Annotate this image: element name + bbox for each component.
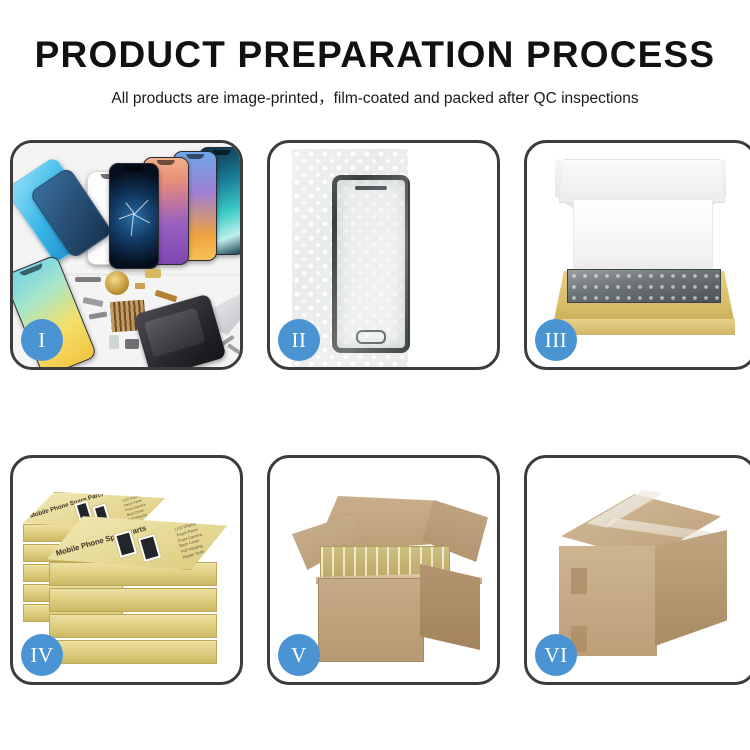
- sealed-carton-side: [655, 530, 727, 646]
- box-lid-back: [559, 159, 725, 203]
- carton-front-face: [318, 578, 424, 662]
- page-header: PRODUCT PREPARATION PROCESS All products…: [0, 0, 750, 108]
- packed-screen: [567, 269, 721, 303]
- process-step-panel-1[interactable]: I: [10, 140, 243, 370]
- process-step-panel-2[interactable]: II: [267, 140, 500, 370]
- step-badge-4: IV: [21, 634, 63, 676]
- process-step-panel-5[interactable]: V: [267, 455, 500, 685]
- process-step-panel-3[interactable]: III: [524, 140, 750, 370]
- step-badge-1: I: [21, 319, 63, 361]
- page-title: PRODUCT PREPARATION PROCESS: [0, 0, 750, 75]
- step-badge-6: VI: [535, 634, 577, 676]
- step-badge-5: V: [278, 634, 320, 676]
- page-subtitle: All products are image-printed，film-coat…: [0, 75, 750, 108]
- process-step-panel-6[interactable]: VI: [524, 455, 750, 685]
- process-step-grid: I II III: [10, 140, 740, 685]
- kraft-box-front-lip: [553, 319, 735, 335]
- carton-seal-mark-top: [571, 568, 587, 594]
- step-badge-2: II: [278, 319, 320, 361]
- carton-side-face: [420, 564, 480, 650]
- wireless-coil-part: [105, 271, 129, 295]
- box-checklist-front: LCD DisplayTouch PanelFront CameraBack C…: [174, 520, 207, 560]
- foam-padding: [573, 199, 713, 277]
- process-step-panel-4[interactable]: Mobile Phone Spare Parts LCD DisplayTouc…: [10, 455, 243, 685]
- step-badge-3: III: [535, 319, 577, 361]
- phone-screen-cracked: [109, 163, 159, 269]
